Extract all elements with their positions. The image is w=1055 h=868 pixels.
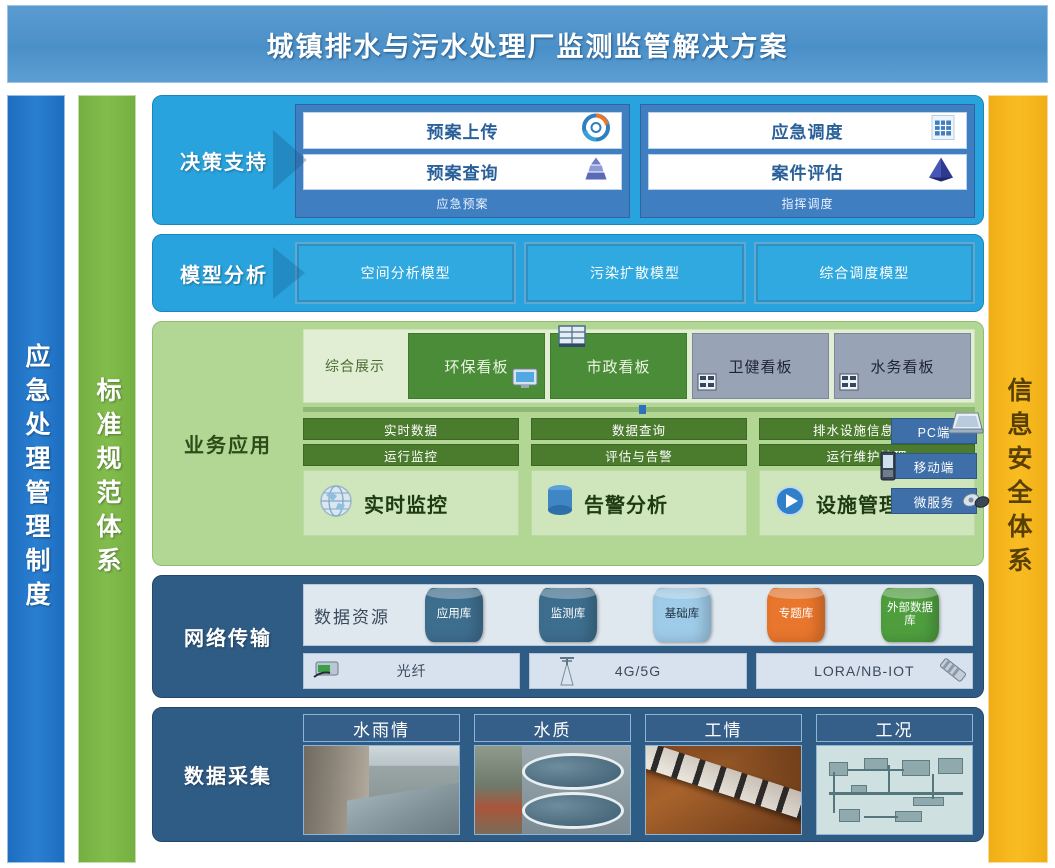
chip-realtime-data[interactable]: 实时数据 [303, 418, 519, 440]
decision-item-plan-upload[interactable]: 预案上传 [303, 112, 622, 149]
db-thematic-wrap: 专题库 [744, 588, 848, 642]
sensor-module-icon [936, 655, 970, 688]
board-water-affairs-label: 水务看板 [870, 356, 934, 377]
board-water-affairs[interactable]: 水务看板 [834, 333, 971, 399]
acquisition-card-conditions-label: 工况 [816, 714, 973, 742]
band-business-application: 业务应用 综合展示 环保看板 [152, 321, 984, 566]
monitor-icon [512, 368, 538, 394]
feature-alarm-analysis-label: 告警分析 [584, 489, 668, 518]
pillar-information-security-label: 信息安全体系 [1000, 377, 1036, 581]
pillar-standards-system-label: 标准规范体系 [89, 377, 125, 581]
decision-group-emergency-plan-caption: 应急预案 [303, 195, 622, 214]
transport-cellular[interactable]: 4G/5G [529, 653, 746, 689]
decision-item-case-evaluation[interactable]: 案件评估 [648, 154, 967, 191]
acquisition-card-water-quality-label: 水质 [474, 714, 631, 742]
acquisition-card-rainfall[interactable]: 水雨情 [303, 714, 460, 835]
decision-item-plan-upload-label: 预案上传 [427, 118, 499, 143]
business-columns: 实时数据 运行监控 [303, 418, 975, 536]
business-column-alarm: 数据查询 评估与告警 告警分析 [531, 418, 747, 536]
acquisition-card-water-quality[interactable]: 水质 [474, 714, 631, 835]
scada-schematic-photo [816, 745, 973, 835]
band-business-label: 业务应用 [153, 322, 303, 565]
model-box-spatial[interactable]: 空间分析模型 [295, 242, 516, 304]
transport-lora-label: LORA/NB-IOT [814, 663, 914, 679]
comprehensive-display-row: 综合展示 环保看板 [303, 329, 975, 403]
terminal-microservice[interactable]: 微服务 [891, 488, 977, 514]
feature-alarm-analysis[interactable]: 告警分析 [531, 470, 747, 536]
feature-realtime-monitoring-label: 实时监控 [364, 489, 448, 518]
pillar-standards-system: 标准规范体系 [78, 95, 136, 863]
band-decision-support: 决策支持 预案上传 [152, 95, 984, 225]
acquisition-card-conditions[interactable]: 工况 [816, 714, 973, 835]
db-monitoring[interactable]: 监测库 [539, 588, 597, 642]
board-environment-label: 环保看板 [444, 356, 508, 377]
acquisition-card-works[interactable]: 工情 [645, 714, 802, 835]
decision-group-emergency-plan: 预案上传 预案查询 [295, 104, 630, 218]
database-icon [544, 482, 576, 525]
mobile-phone-icon [878, 450, 898, 485]
chart-node-icon [839, 373, 859, 395]
transport-fiber-label: 光纤 [397, 661, 427, 681]
db-basic-wrap: 基础库 [630, 588, 734, 642]
decision-item-plan-query[interactable]: 预案查询 [303, 154, 622, 191]
acquisition-card-rainfall-label: 水雨情 [303, 714, 460, 742]
band-model-label: 模型分析 [153, 235, 295, 311]
decision-group-command-dispatch: 应急调度 [640, 104, 975, 218]
model-box-pollution[interactable]: 污染扩散模型 [524, 242, 745, 304]
terminal-mobile-label: 移动端 [914, 457, 955, 476]
buried-pipeline-photo [645, 745, 802, 835]
data-resources-label: 数据资源 [314, 603, 390, 628]
terminal-list: PC端 [891, 418, 977, 514]
pillar-information-security: 信息安全体系 [988, 95, 1048, 863]
db-external-wrap: 外部数据库 [858, 588, 962, 642]
globe-icon [316, 481, 356, 526]
transport-lora[interactable]: LORA/NB-IOT [756, 653, 973, 689]
sedimentation-tanks-photo [474, 745, 631, 835]
center-stack: 决策支持 预案上传 [152, 95, 984, 863]
db-application-wrap: 应用库 [402, 588, 506, 642]
decision-item-emergency-dispatch[interactable]: 应急调度 [648, 112, 967, 149]
feature-facility-management-label: 设施管理 [816, 489, 900, 518]
refresh-cycle-icon [581, 113, 611, 148]
fiber-cable-icon [310, 657, 344, 686]
band-data-acquisition: 数据采集 水雨情 水质 工情 [152, 707, 984, 842]
board-health[interactable]: 卫健看板 [692, 333, 829, 399]
db-application[interactable]: 应用库 [425, 588, 483, 642]
business-divider [303, 407, 975, 412]
river-embankment-photo [303, 745, 460, 835]
model-box-dispatch[interactable]: 综合调度模型 [754, 242, 975, 304]
transport-cellular-label: 4G/5G [615, 663, 661, 679]
pillar-emergency-management: 应急处理管理制度 [7, 95, 65, 863]
chip-operation-monitoring[interactable]: 运行监控 [303, 444, 519, 466]
feature-realtime-monitoring[interactable]: 实时监控 [303, 470, 519, 536]
laptop-icon [948, 411, 984, 440]
band-decision-label: 决策支持 [153, 96, 295, 224]
gears-icon [960, 487, 992, 516]
terminal-microservice-label: 微服务 [914, 492, 955, 511]
chip-data-query[interactable]: 数据查询 [531, 418, 747, 440]
business-column-monitoring: 实时数据 运行监控 [303, 418, 519, 536]
grid-table-icon [930, 114, 956, 147]
db-external[interactable]: 外部数据库 [881, 588, 939, 642]
board-municipal-label: 市政看板 [586, 356, 650, 377]
layered-pyramid-icon [581, 155, 611, 188]
board-environment[interactable]: 环保看板 [408, 333, 545, 399]
window-grid-icon [557, 324, 587, 354]
band-data-label: 数据采集 [153, 708, 303, 841]
decision-item-emergency-dispatch-label: 应急调度 [772, 118, 844, 143]
band-network-transmission: 网络传输 数据资源 应用库 监测库 基础库 专题库 [152, 575, 984, 698]
transport-fiber[interactable]: 光纤 [303, 653, 520, 689]
comprehensive-display-label: 综合展示 [307, 333, 403, 399]
antenna-tower-icon [556, 655, 578, 690]
band-model-analysis: 模型分析 空间分析模型 污染扩散模型 综合调度模型 [152, 234, 984, 312]
board-municipal[interactable]: 市政看板 [550, 333, 687, 399]
acquisition-card-works-label: 工情 [645, 714, 802, 742]
db-monitoring-wrap: 监测库 [516, 588, 620, 642]
diagram-page: 城镇排水与污水处理厂监测监管解决方案 应急处理管理制度 标准规范体系 信息安全体… [0, 0, 1055, 868]
decision-item-case-evaluation-label: 案件评估 [772, 159, 844, 184]
decision-item-plan-query-label: 预案查询 [427, 159, 499, 184]
band-network-label: 网络传输 [153, 576, 303, 697]
pillar-emergency-management-label: 应急处理管理制度 [18, 343, 54, 615]
terminal-mobile[interactable]: 移动端 [891, 453, 977, 479]
page-title: 城镇排水与污水处理厂监测监管解决方案 [267, 25, 789, 64]
board-health-label: 卫健看板 [728, 356, 792, 377]
data-resources-row: 数据资源 应用库 监测库 基础库 专题库 外部数据库 [303, 584, 973, 646]
chart-node-icon [697, 373, 717, 395]
decision-group-command-dispatch-caption: 指挥调度 [648, 195, 967, 214]
play-circle-icon [772, 483, 808, 524]
terminal-pc[interactable]: PC端 [891, 418, 977, 444]
diagram-title-bar: 城镇排水与污水处理厂监测监管解决方案 [7, 5, 1048, 83]
db-basic[interactable]: 基础库 [653, 588, 711, 642]
transport-row: 光纤 4G/5G [303, 653, 973, 689]
pyramid-3d-icon [926, 155, 956, 188]
db-thematic[interactable]: 专题库 [767, 588, 825, 642]
terminal-pc-label: PC端 [918, 422, 951, 441]
chip-evaluation-alarm[interactable]: 评估与告警 [531, 444, 747, 466]
